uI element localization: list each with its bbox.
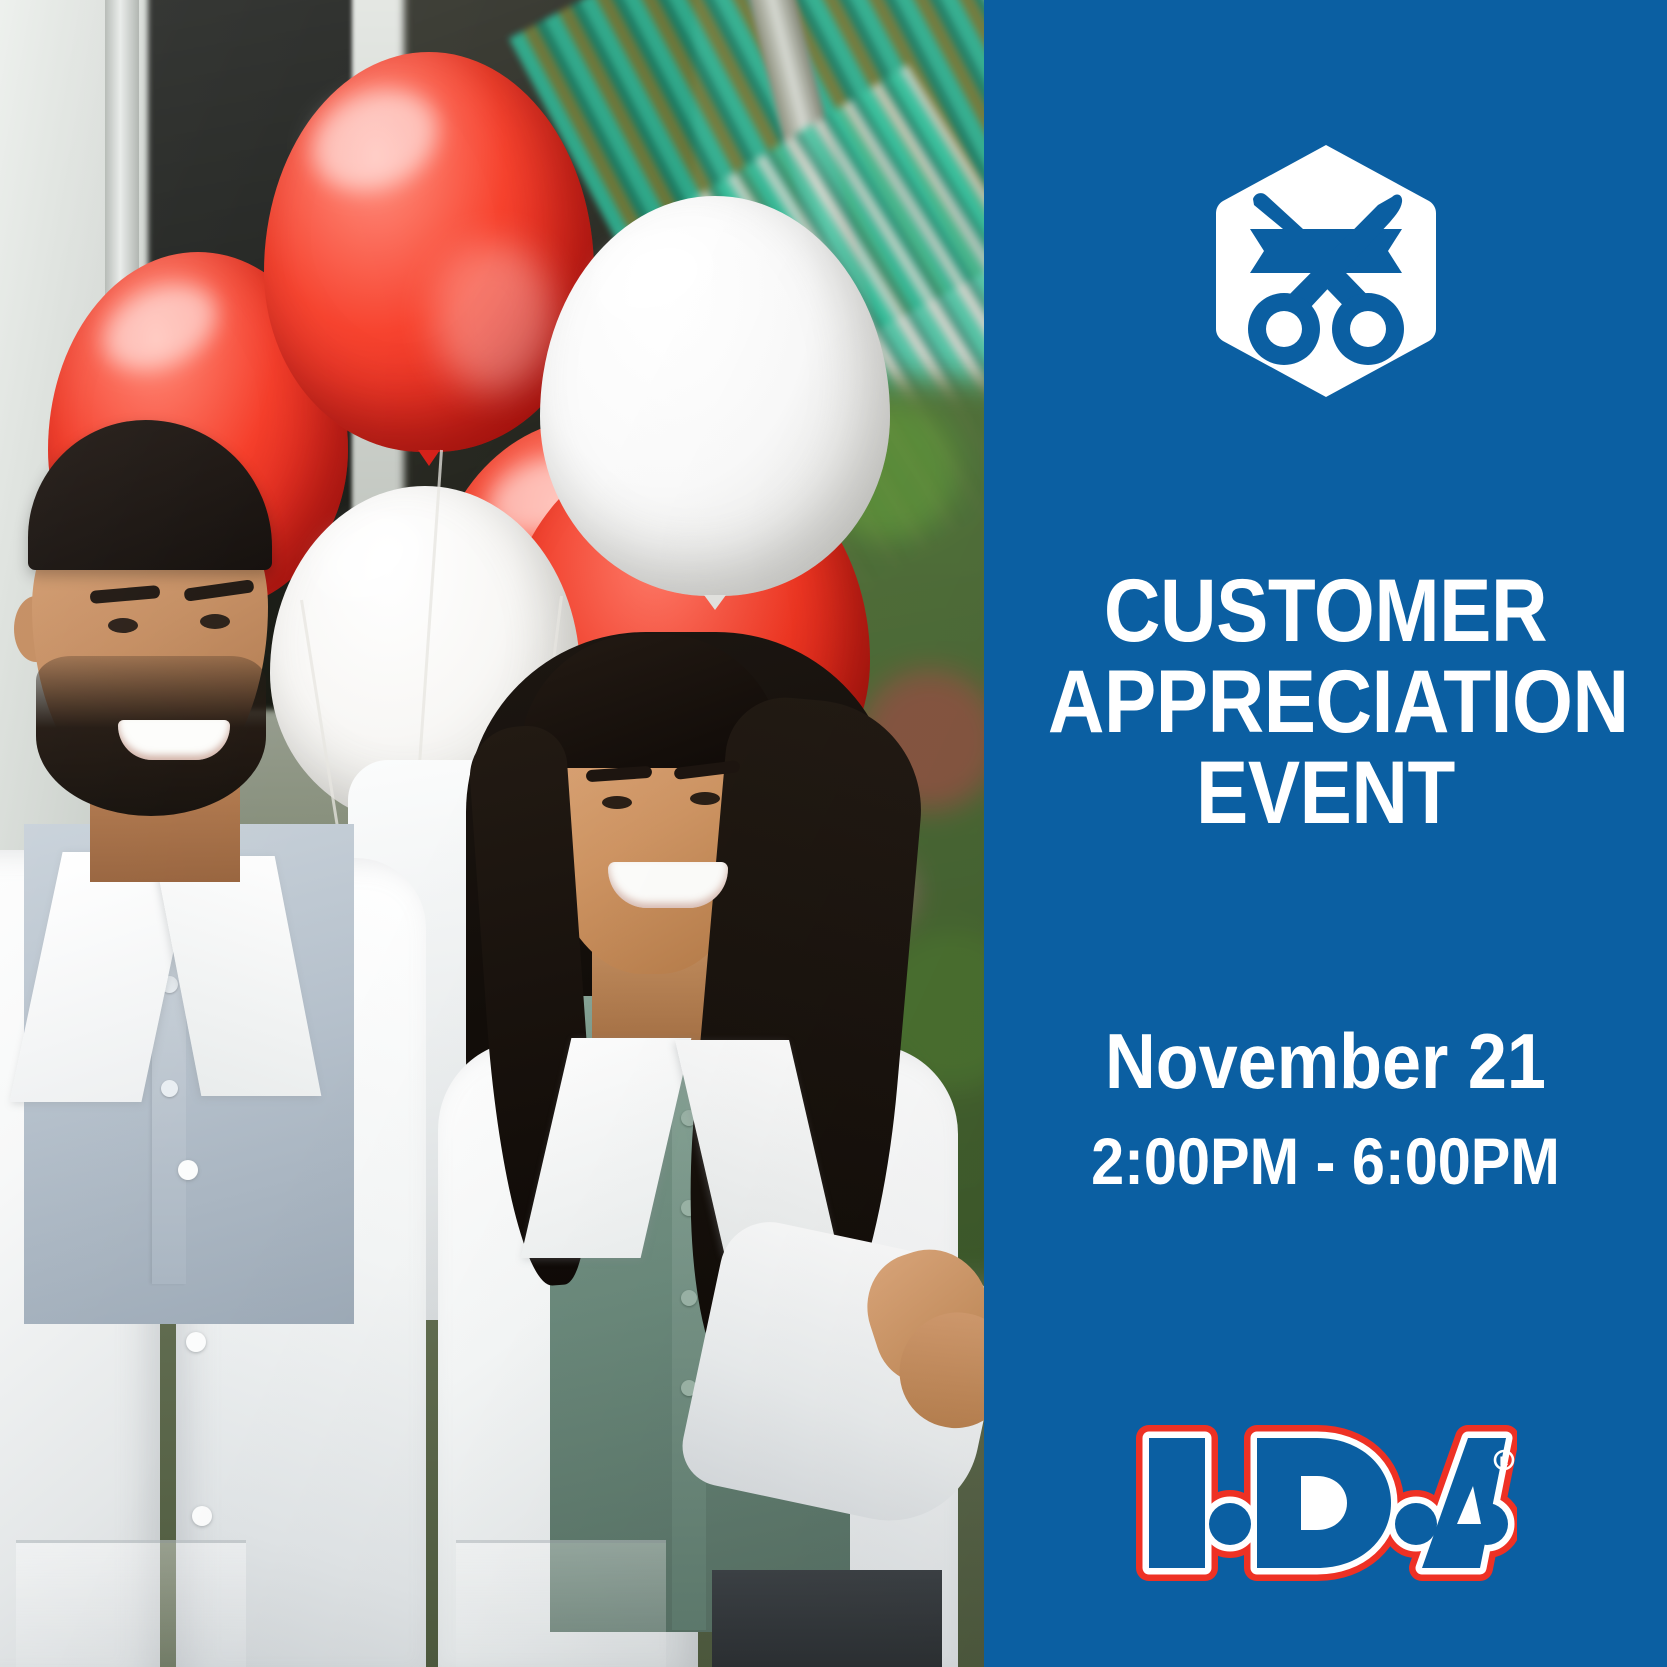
headline: CUSTOMER APPRECIATION EVENT: [1048, 565, 1603, 837]
ribbon-cutting-scissors-hexagon-icon: [1210, 143, 1442, 399]
lab-coat-button: [192, 1506, 212, 1526]
svg-text:R: R: [1499, 1454, 1508, 1468]
headline-line-2: APPRECIATION: [1048, 656, 1603, 747]
eye: [200, 614, 230, 629]
hair: [28, 420, 272, 570]
female-pharmacist: [400, 640, 984, 1667]
headline-line-3: EVENT: [1048, 747, 1603, 838]
blouse-button: [681, 1290, 697, 1306]
promotional-poster: CUSTOMER APPRECIATION EVENT November 21 …: [0, 0, 1667, 1667]
event-time: 2:00PM - 6:00PM: [1042, 1125, 1610, 1199]
ida-pharmacy-logo: R: [1135, 1420, 1517, 1586]
info-panel: CUSTOMER APPRECIATION EVENT November 21 …: [984, 0, 1667, 1667]
eye: [108, 618, 138, 633]
lab-coat-button: [178, 1160, 198, 1180]
brand-logo-container: R: [984, 1420, 1667, 1586]
event-details: November 21 2:00PM - 6:00PM: [1010, 1018, 1641, 1199]
event-photo: [0, 0, 984, 1667]
smile: [118, 720, 230, 760]
eye: [602, 796, 632, 809]
eye: [690, 792, 720, 805]
event-icon-container: [984, 143, 1667, 399]
male-pharmacist: [0, 420, 460, 1667]
event-date: November 21: [1042, 1018, 1610, 1105]
smile: [608, 862, 728, 908]
trousers: [712, 1570, 942, 1667]
lab-coat-pocket: [16, 1540, 246, 1667]
lab-coat-button: [186, 1332, 206, 1352]
shirt-button: [161, 1080, 178, 1097]
lab-coat-pocket: [456, 1540, 666, 1667]
headline-line-1: CUSTOMER: [1048, 565, 1603, 656]
